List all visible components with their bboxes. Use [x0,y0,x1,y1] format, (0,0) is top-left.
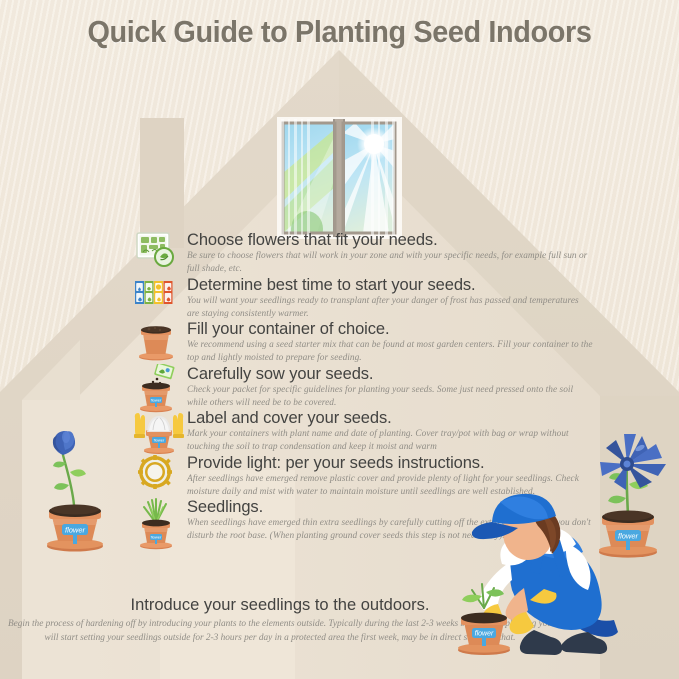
step-body: Be sure to choose flowers that will work… [187,250,593,276]
step-item: Choose flowers that fit your needs. Be s… [133,230,593,277]
potted-blue-flower-left: flower [36,415,114,560]
seed-packets-icon [133,275,179,321]
step-heading: Fill your container of choice. [187,319,593,339]
step-item: flower Label and cover your seeds. Mark … [133,408,593,455]
step-heading: Determine best time to start your seeds. [187,275,593,295]
step-body: You will want your seedlings ready to tr… [187,295,593,321]
step-heading: Provide light: per your seeds instructio… [187,453,593,473]
step-heading: Choose flowers that fit your needs. [187,230,593,250]
step-item: Fill your container of choice. We recomm… [133,319,593,366]
step-item: flower Carefully sow your seeds. Check y… [133,364,593,411]
gardener-planting: flower [438,492,679,679]
step-item: Determine best time to start your seeds.… [133,275,593,322]
sowing-seeds-icon: flower [133,364,179,410]
filled-pot-icon [133,319,179,365]
sunny-window [277,117,402,239]
step-body: Mark your containers with plant name and… [187,428,593,454]
sun-ring-icon [133,453,179,499]
step-heading: Label and cover your seeds. [187,408,593,428]
svg-text:flower: flower [65,526,86,535]
page-title: Quick Guide to Planting Seed Indoors [24,14,655,50]
step-heading: Carefully sow your seeds. [187,364,593,384]
svg-text:flower: flower [154,438,165,443]
step-body: We recommend using a seed starter mix th… [187,339,593,365]
infographic-poster: Quick Guide to Planting Seed Indoors [0,0,679,679]
gloves-covering-pot-icon: flower [133,408,179,454]
seed-catalog-icon [133,230,179,276]
step-body: Check your packet for specific guideline… [187,384,593,410]
svg-text:flower: flower [151,534,162,539]
seedlings-pot-icon: flower [133,497,179,543]
svg-text:flower: flower [151,397,162,402]
svg-text:flower: flower [475,630,494,637]
